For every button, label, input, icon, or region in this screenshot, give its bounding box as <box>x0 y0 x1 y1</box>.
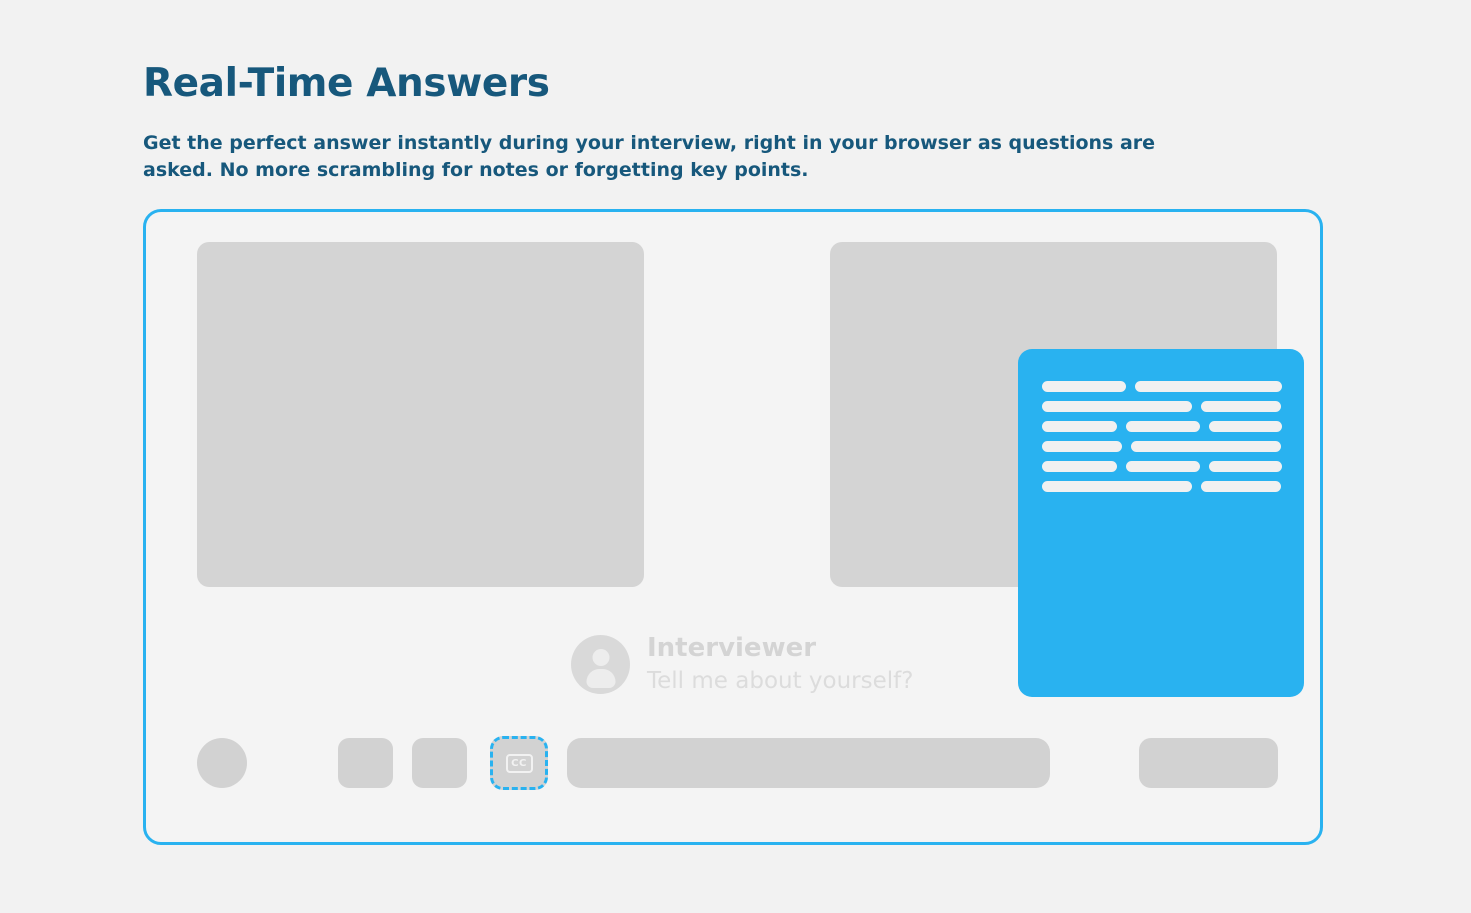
answer-text-bar <box>1201 481 1281 492</box>
answer-text-bar <box>1126 461 1201 472</box>
answer-skeleton-lines <box>1042 381 1282 501</box>
interviewer-caption: Interviewer Tell me about yourself? <box>571 633 913 696</box>
page-root: Real-Time Answers Get the perfect answer… <box>0 0 1471 913</box>
answer-line-row <box>1042 381 1282 392</box>
answer-line-row <box>1042 481 1282 492</box>
answer-text-bar <box>1042 421 1117 432</box>
page-title: Real-Time Answers <box>143 60 1243 108</box>
answer-text-bar <box>1135 381 1282 392</box>
answer-text-bar <box>1209 461 1282 472</box>
closed-captions-icon: CC <box>506 754 533 773</box>
interviewer-text-block: Interviewer Tell me about yourself? <box>647 633 913 696</box>
meeting-toolbar: CC <box>146 728 1320 798</box>
interviewer-question: Tell me about yourself? <box>647 666 913 696</box>
answer-text-bar <box>1201 401 1281 412</box>
toolbar-button-2[interactable] <box>412 738 467 788</box>
answer-text-bar <box>1131 441 1281 452</box>
avatar-head-shape <box>592 649 609 666</box>
toolbar-wide-bar[interactable] <box>567 738 1050 788</box>
answer-text-bar <box>1042 401 1192 412</box>
heading-block: Real-Time Answers Get the perfect answer… <box>143 60 1243 184</box>
answer-line-row <box>1042 421 1282 432</box>
answer-line-row <box>1042 401 1282 412</box>
toolbar-button-1[interactable] <box>338 738 393 788</box>
real-time-answer-overlay[interactable] <box>1018 349 1304 697</box>
feature-preview-card: Interviewer Tell me about yourself? CC <box>143 209 1323 845</box>
page-subtitle: Get the perfect answer instantly during … <box>143 130 1163 184</box>
toolbar-captions-button[interactable]: CC <box>490 736 548 790</box>
answer-text-bar <box>1126 421 1201 432</box>
answer-text-bar <box>1042 381 1126 392</box>
answer-line-row <box>1042 461 1282 472</box>
answer-text-bar <box>1042 441 1122 452</box>
answer-line-row <box>1042 441 1282 452</box>
answer-text-bar <box>1042 481 1192 492</box>
video-placeholder-left <box>197 242 644 587</box>
person-avatar-icon <box>571 635 630 694</box>
avatar-body-shape <box>586 669 615 688</box>
answer-text-bar <box>1042 461 1117 472</box>
toolbar-end-button[interactable] <box>1139 738 1278 788</box>
interviewer-name: Interviewer <box>647 633 913 664</box>
answer-text-bar <box>1209 421 1282 432</box>
toolbar-avatar-circle[interactable] <box>197 738 247 788</box>
